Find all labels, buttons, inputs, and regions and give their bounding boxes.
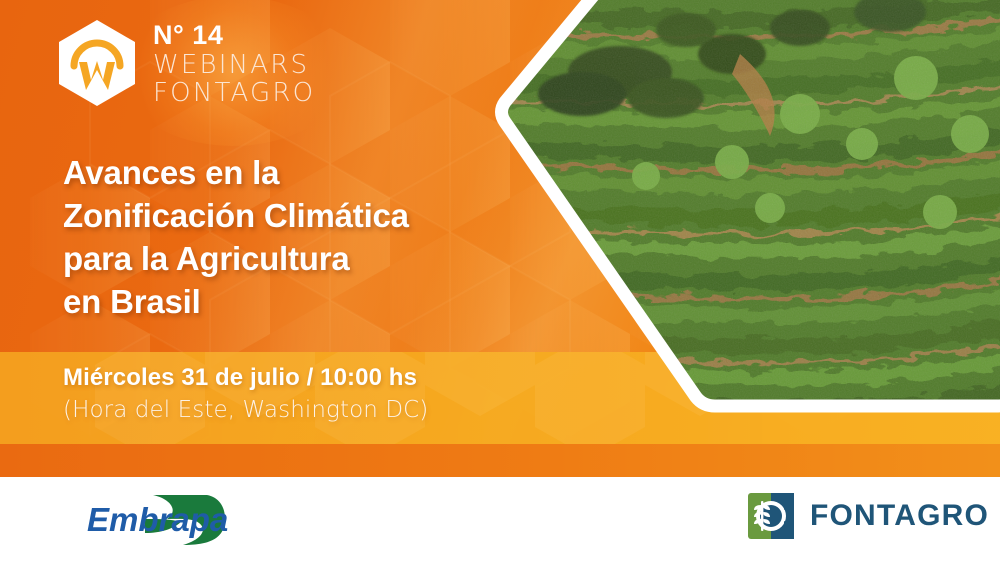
title-line-2: Zonificación Climática [63,195,533,238]
header-fontagro-label: FONTAGRO [153,80,315,106]
fontagro-hexagon-w-logo-icon [55,18,139,108]
title-line-1: Avances en la [63,152,533,195]
edition-number: N° 14 [153,22,315,49]
schedule-block: Miércoles 31 de julio / 10:00 hs (Hora d… [63,363,428,425]
date-time-text: Miércoles 31 de julio / 10:00 hs [63,363,428,393]
webinar-title: Avances en la Zonificación Climática par… [63,152,533,324]
webinar-promo-poster: N° 14 WEBINARS FONTAGRO Avances en la Zo… [0,0,1000,562]
fontagro-wordmark: FONTAGRO [810,499,989,533]
embrapa-logo: Embrapa [75,489,235,551]
lower-orange-strip [0,444,1000,477]
fontagro-logo: FONTAGRO [748,493,989,539]
embrapa-wordmark: Embrapa [87,501,228,538]
brand-header: N° 14 WEBINARS FONTAGRO [55,18,315,108]
title-line-4: en Brasil [63,281,533,324]
plantation-photo [470,0,1000,419]
timezone-text: (Hora del Este, Washington DC) [63,396,428,425]
orange-background-panel: N° 14 WEBINARS FONTAGRO Avances en la Zo… [0,0,1000,477]
title-line-3: para la Agricultura [63,238,533,281]
fontagro-wheat-gear-icon [748,493,794,539]
header-webinars-label: WEBINARS [153,52,315,78]
sponsor-footer: Embrapa [0,477,1000,562]
